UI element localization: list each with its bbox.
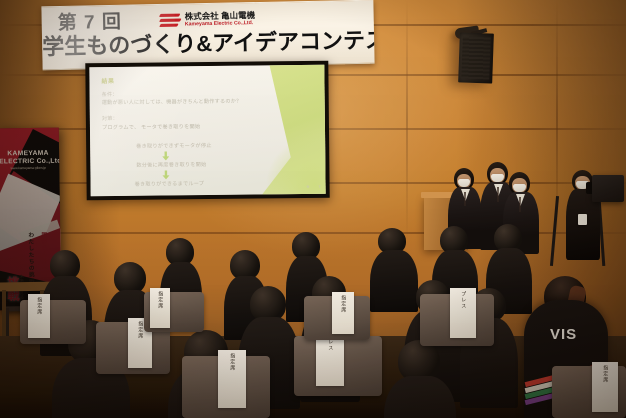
slide-line: 巻き取りができるまでループ [135,180,205,188]
camera-icon [592,175,624,202]
speaker-icon [458,32,494,83]
slide-page-number: 7 [318,184,320,189]
slide-footer-mark: ※ [306,184,309,189]
projection-screen: 結果 条件： 運動が悪い人に対しては、機器がきちんと動作するのか？ 対策： プロ… [89,65,325,196]
chair-sign: 指定席 [332,292,354,334]
chair-sign-text: 指定席 [340,295,347,313]
presentation-hall-photo: 第 7 回 株式会社 亀山電機 Kameyama Electric Co.,Lt… [0,0,626,418]
chair-sign: 指定席 [28,294,50,338]
chair-sign: 指定席 [218,350,246,408]
slide-line: 対策： [102,115,118,122]
jacket-text: VIS [550,326,577,343]
banner-glare [41,5,175,71]
logo-en-name: Kameyama Electric Co.,Ltd. [185,21,255,28]
chair-sign-text: 指定席 [36,297,43,315]
slide-line: 運動が悪い人に対しては、機器がきちんと動作するのか？ [102,98,242,106]
chair-sign: 指定席 [592,362,618,412]
chair-sign-text: 指定席 [229,353,236,371]
slide-heading: 結果 [101,76,114,85]
chair-sign: 指定席 [150,288,170,328]
slide-line: 巻き取りができずモータが停止 [136,142,212,150]
chair-sign-text: 指定席 [157,291,164,309]
chair-sign-text: 指定席 [602,365,609,383]
chair-sign-text: 指定席 [137,321,144,339]
slide-line: 数分後に再度巻き取りを開始 [136,161,206,169]
chair-sign: プレス [450,288,476,338]
slide-line: 条件： [102,91,118,98]
chair-sign-text: プレス [460,291,467,309]
slide-accent-glow [265,136,326,197]
torso [370,250,418,312]
logo-text: 株式会社 亀山電機 Kameyama Electric Co.,Ltd. [185,11,256,28]
speaker-grill [461,37,490,80]
slide-line: プログラムで、 モータで巻き取りを開始 [102,123,200,131]
projection-screen-frame: 結果 条件： 運動が悪い人に対しては、機器がきちんと動作するのか？ 対策： プロ… [85,61,329,201]
id-badge [578,214,587,225]
